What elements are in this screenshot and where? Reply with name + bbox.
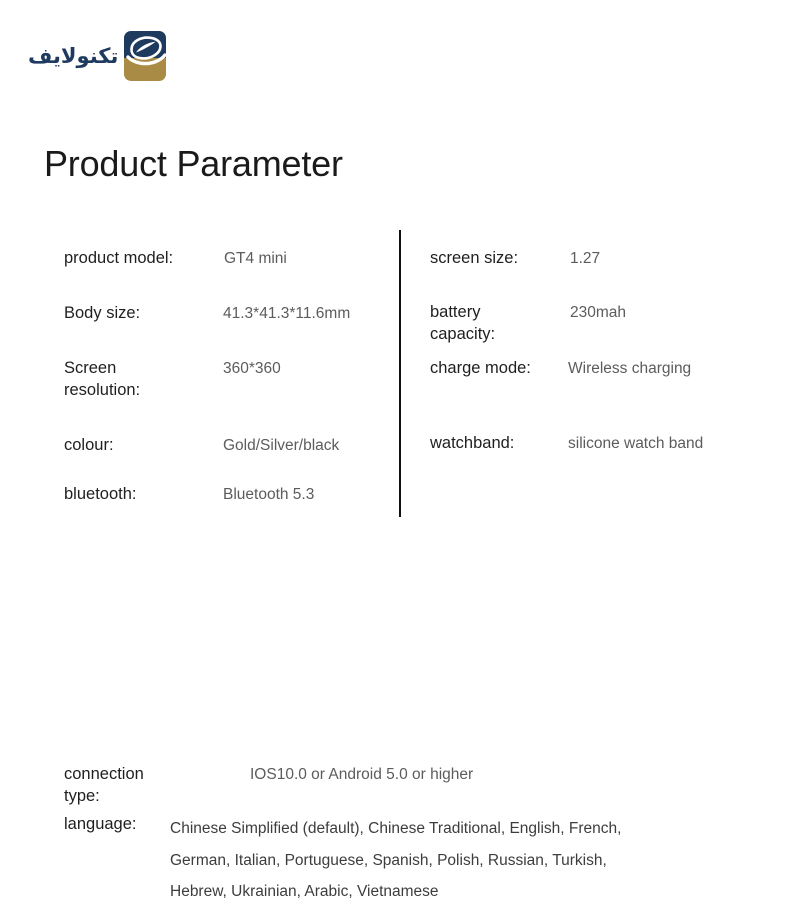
spec-row-bluetooth: bluetooth: Bluetooth 5.3 [64, 484, 136, 506]
spec-row-screen-resolution: Screen resolution: 360*360 [64, 358, 140, 402]
column-divider [399, 230, 401, 517]
spec-row-watchband: watchband: silicone watch band [430, 433, 514, 455]
spec-label: colour: [64, 435, 114, 457]
spec-value: 1.27 [570, 249, 600, 270]
spec-label: watchband: [430, 433, 514, 455]
technolife-logo-mark-icon [122, 30, 168, 82]
spec-label: connection type: [64, 764, 144, 808]
spec-value: 41.3*41.3*11.6mm [223, 304, 350, 325]
spec-row-battery-capacity: battery capacity: 230mah [430, 302, 495, 346]
spec-row-charge-mode: charge mode: Wireless charging [430, 358, 531, 380]
spec-value: silicone watch band [568, 434, 703, 455]
spec-value: Chinese Simplified (default), Chinese Tr… [170, 813, 660, 908]
spec-value: 360*360 [223, 359, 281, 380]
spec-value: Gold/Silver/black [223, 436, 339, 457]
spec-row-colour: colour: Gold/Silver/black [64, 435, 114, 457]
spec-label: battery capacity: [430, 302, 495, 346]
spec-label: screen size: [430, 248, 518, 270]
spec-row-body-size: Body size: 41.3*41.3*11.6mm [64, 303, 140, 325]
brand-wordmark: تکنولایف [28, 46, 118, 67]
spec-label: bluetooth: [64, 484, 136, 506]
spec-row-product-model: product model: GT4 mini [64, 248, 173, 270]
spec-value: IOS10.0 or Android 5.0 or higher [250, 765, 473, 786]
spec-value: 230mah [570, 303, 626, 324]
page-title: Product Parameter [44, 142, 343, 185]
spec-label: Screen resolution: [64, 358, 140, 402]
brand-logo: تکنولایف [28, 24, 208, 88]
spec-label: charge mode: [430, 358, 531, 380]
spec-value: GT4 mini [224, 249, 287, 270]
spec-value: Wireless charging [568, 359, 691, 380]
spec-value: Bluetooth 5.3 [223, 485, 314, 506]
spec-label: Body size: [64, 303, 140, 325]
spec-row-screen-size: screen size: 1.27 [430, 248, 518, 270]
spec-label: language: [64, 814, 137, 836]
spec-label: product model: [64, 248, 173, 270]
